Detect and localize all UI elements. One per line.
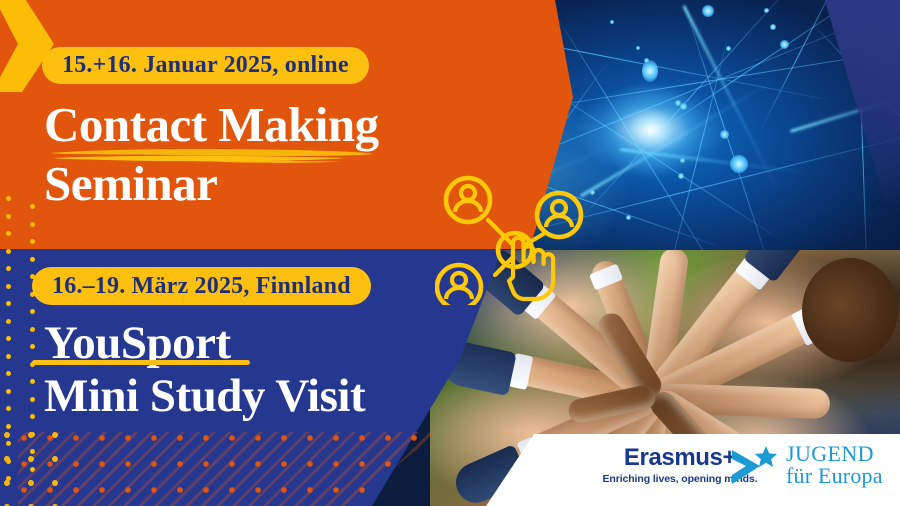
person-search-icon-2 — [537, 193, 581, 237]
person-search-icon-3 — [437, 265, 481, 305]
yousport-underline-decor — [32, 360, 250, 365]
jugend-fuer-europa-logo: JUGEND für Europa — [786, 443, 883, 488]
jfe-line1: JUGEND — [786, 443, 883, 465]
person-search-icon-1 — [446, 178, 490, 222]
jfe-line2: für Europa — [786, 465, 883, 487]
event-date-badge-1: 15.+16. Januar 2025, online — [42, 47, 369, 84]
event-title-2-line2: Mini Study Visit — [44, 369, 365, 423]
event-date-badge-2: 16.–19. März 2025, Finnland — [32, 267, 371, 305]
event-title-1-line2: Seminar — [44, 155, 217, 212]
event-banner: 15.+16. Januar 2025, online Contact Maki… — [0, 0, 900, 506]
event-title-1-line1: Contact Making — [44, 96, 379, 153]
person-search-network-icons — [435, 165, 595, 305]
yellow-halftone-decor — [0, 428, 70, 506]
